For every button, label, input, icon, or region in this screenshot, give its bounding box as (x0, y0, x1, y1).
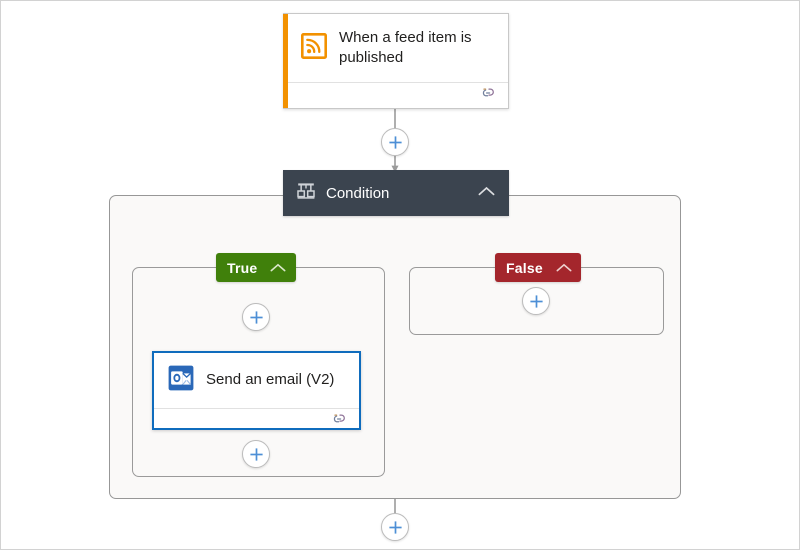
condition-branch-icon (297, 182, 315, 204)
action-card-footer (154, 408, 359, 430)
branch-pill-true-label: True (227, 260, 257, 276)
branch-pill-false[interactable]: False (495, 253, 581, 282)
add-step-true-below-email-button[interactable] (242, 440, 270, 468)
link-icon[interactable] (330, 412, 347, 430)
trigger-card-footer (283, 82, 508, 108)
add-step-after-condition-button[interactable] (381, 513, 409, 541)
branch-pill-true[interactable]: True (216, 253, 296, 282)
chevron-up-icon[interactable] (478, 184, 495, 202)
flow-designer-canvas: When a feed item is published (0, 0, 800, 550)
action-card-send-email[interactable]: Send an email (V2) (152, 351, 361, 430)
plus-icon (249, 447, 264, 462)
plus-icon (388, 135, 403, 150)
plus-icon (249, 310, 264, 325)
plus-icon (529, 294, 544, 309)
trigger-card-header: When a feed item is published (283, 14, 508, 82)
trigger-card-title: When a feed item is published (339, 28, 494, 69)
branch-pill-false-label: False (506, 260, 543, 276)
outlook-icon (168, 365, 194, 396)
add-step-false-branch-button[interactable] (522, 287, 550, 315)
add-step-true-above-email-button[interactable] (242, 303, 270, 331)
trigger-accent-bar (283, 14, 288, 108)
chevron-up-icon[interactable] (556, 260, 572, 276)
condition-header[interactable]: Condition (283, 170, 509, 216)
action-card-header: Send an email (V2) (154, 353, 359, 408)
trigger-card-rss[interactable]: When a feed item is published (283, 13, 509, 109)
add-step-after-trigger-button[interactable] (381, 128, 409, 156)
plus-icon (388, 520, 403, 535)
rss-icon (301, 33, 327, 64)
chevron-up-icon[interactable] (270, 260, 286, 276)
condition-label: Condition (326, 185, 389, 202)
action-card-title: Send an email (V2) (206, 370, 334, 390)
link-icon[interactable] (479, 86, 496, 105)
